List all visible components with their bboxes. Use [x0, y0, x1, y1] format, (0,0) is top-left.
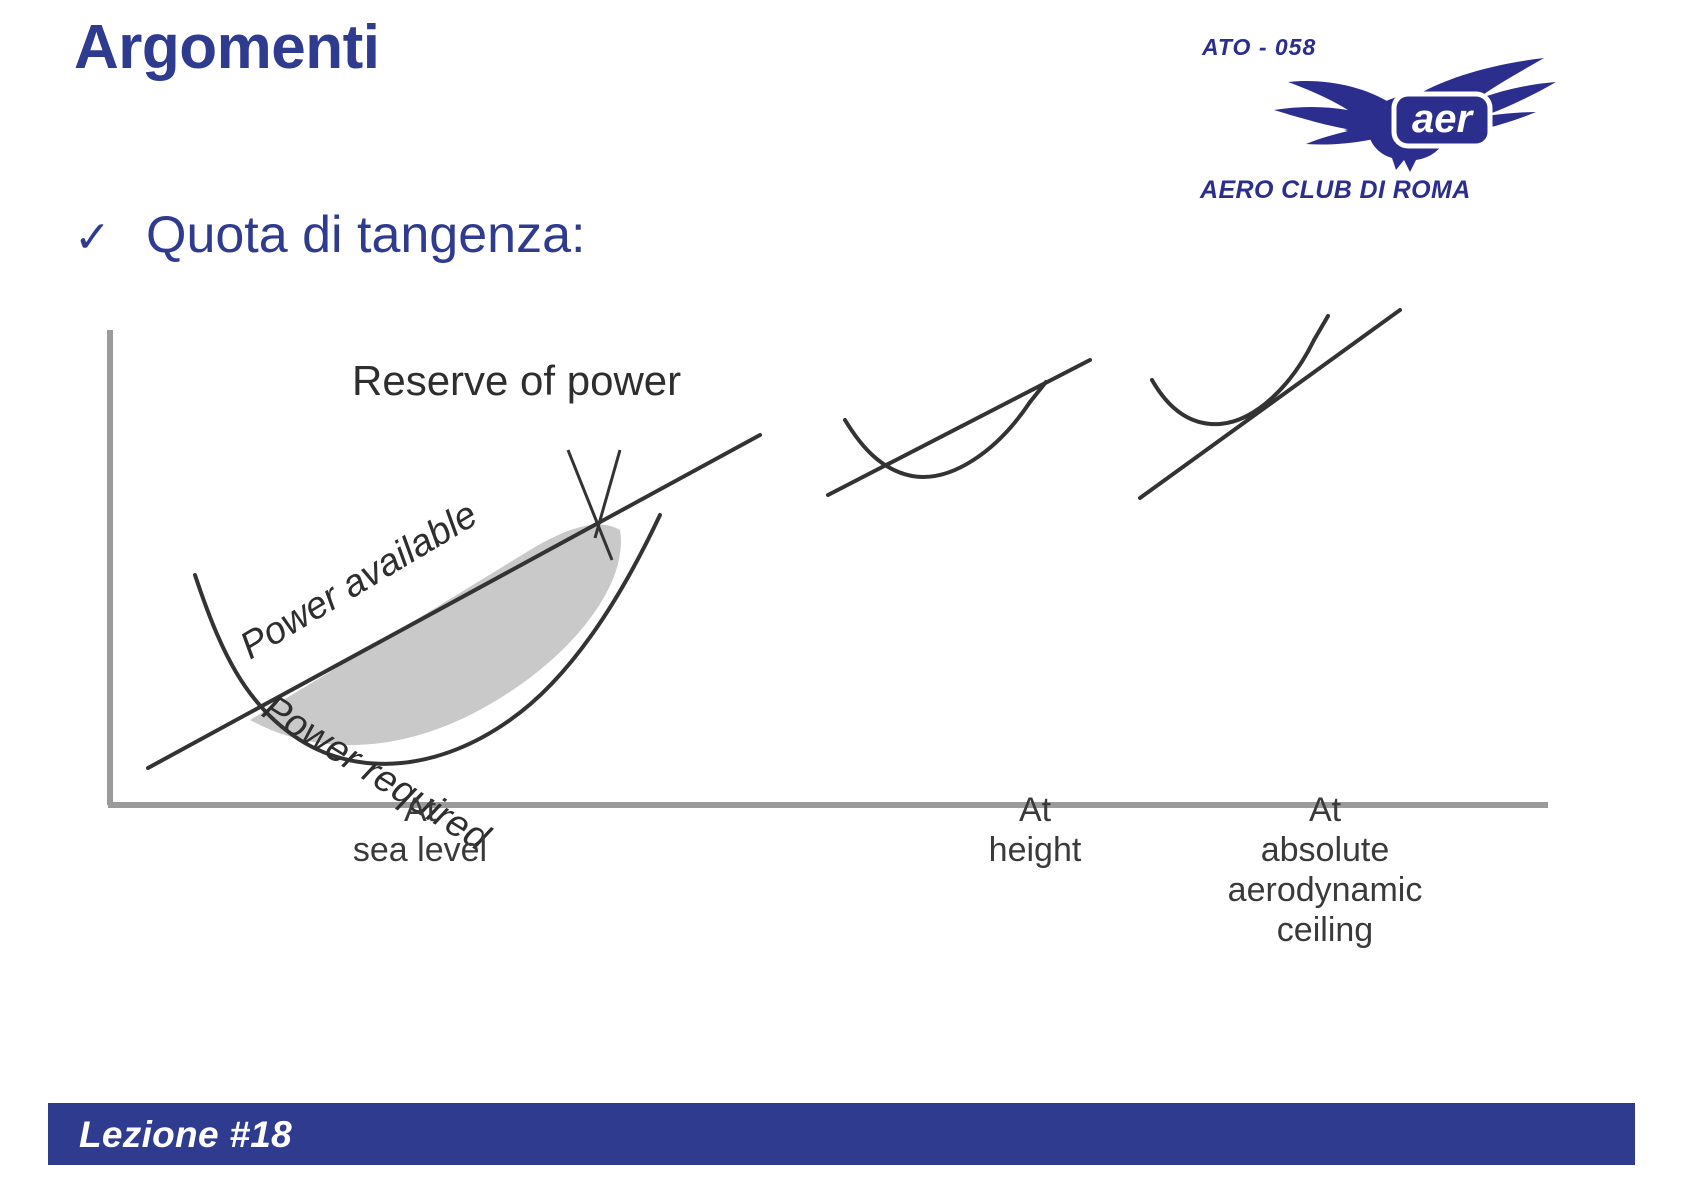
caption-line-2: height	[910, 830, 1160, 870]
caption-line-1: At	[280, 790, 560, 830]
logo-org-name: AERO CLUB DI ROMA	[1200, 176, 1471, 205]
caption-at-absolute-ceiling: At absolute aerodynamic ceiling	[1160, 790, 1490, 950]
aero-club-logo: ATO - 058 aer AERO CLUB DI ROMA	[1190, 18, 1520, 208]
panel-sea-level: Power available Power required Reserve o…	[148, 357, 760, 860]
caption-line-2: absolute	[1160, 830, 1490, 870]
caption-at-sea-level: At sea level	[280, 790, 560, 870]
eagle-icon: aer	[1244, 56, 1564, 176]
caption-line-1: At	[910, 790, 1160, 830]
bullet-item-label: Quota di tangenza:	[146, 205, 585, 265]
caption-line-1: At	[1160, 790, 1490, 830]
svg-text:aer: aer	[1412, 97, 1474, 141]
power-available-line-ceiling	[1140, 310, 1400, 498]
panel-at-height	[828, 360, 1090, 495]
caption-line-4: ceiling	[1160, 910, 1490, 950]
power-required-tail-ceiling	[1314, 316, 1328, 340]
caption-line-2: sea level	[280, 830, 560, 870]
power-available-line-height	[828, 360, 1090, 495]
lesson-label: Lezione #18	[79, 1114, 292, 1156]
footer-bar: Lezione #18	[48, 1103, 1635, 1165]
power-required-curve-ceiling	[1152, 340, 1314, 424]
bullet-list-item: ✓ Quota di tangenza:	[74, 205, 585, 265]
reserve-of-power-label: Reserve of power	[352, 357, 681, 404]
checkmark-icon: ✓	[74, 216, 146, 260]
panel-absolute-ceiling	[1140, 310, 1400, 498]
power-curves-figure: Power available Power required Reserve o…	[100, 290, 1560, 1010]
caption-line-3: aerodynamic	[1160, 870, 1490, 910]
caption-at-height: At height	[910, 790, 1160, 870]
page-title: Argomenti	[74, 12, 380, 83]
reserve-leader-line-2	[595, 450, 620, 538]
